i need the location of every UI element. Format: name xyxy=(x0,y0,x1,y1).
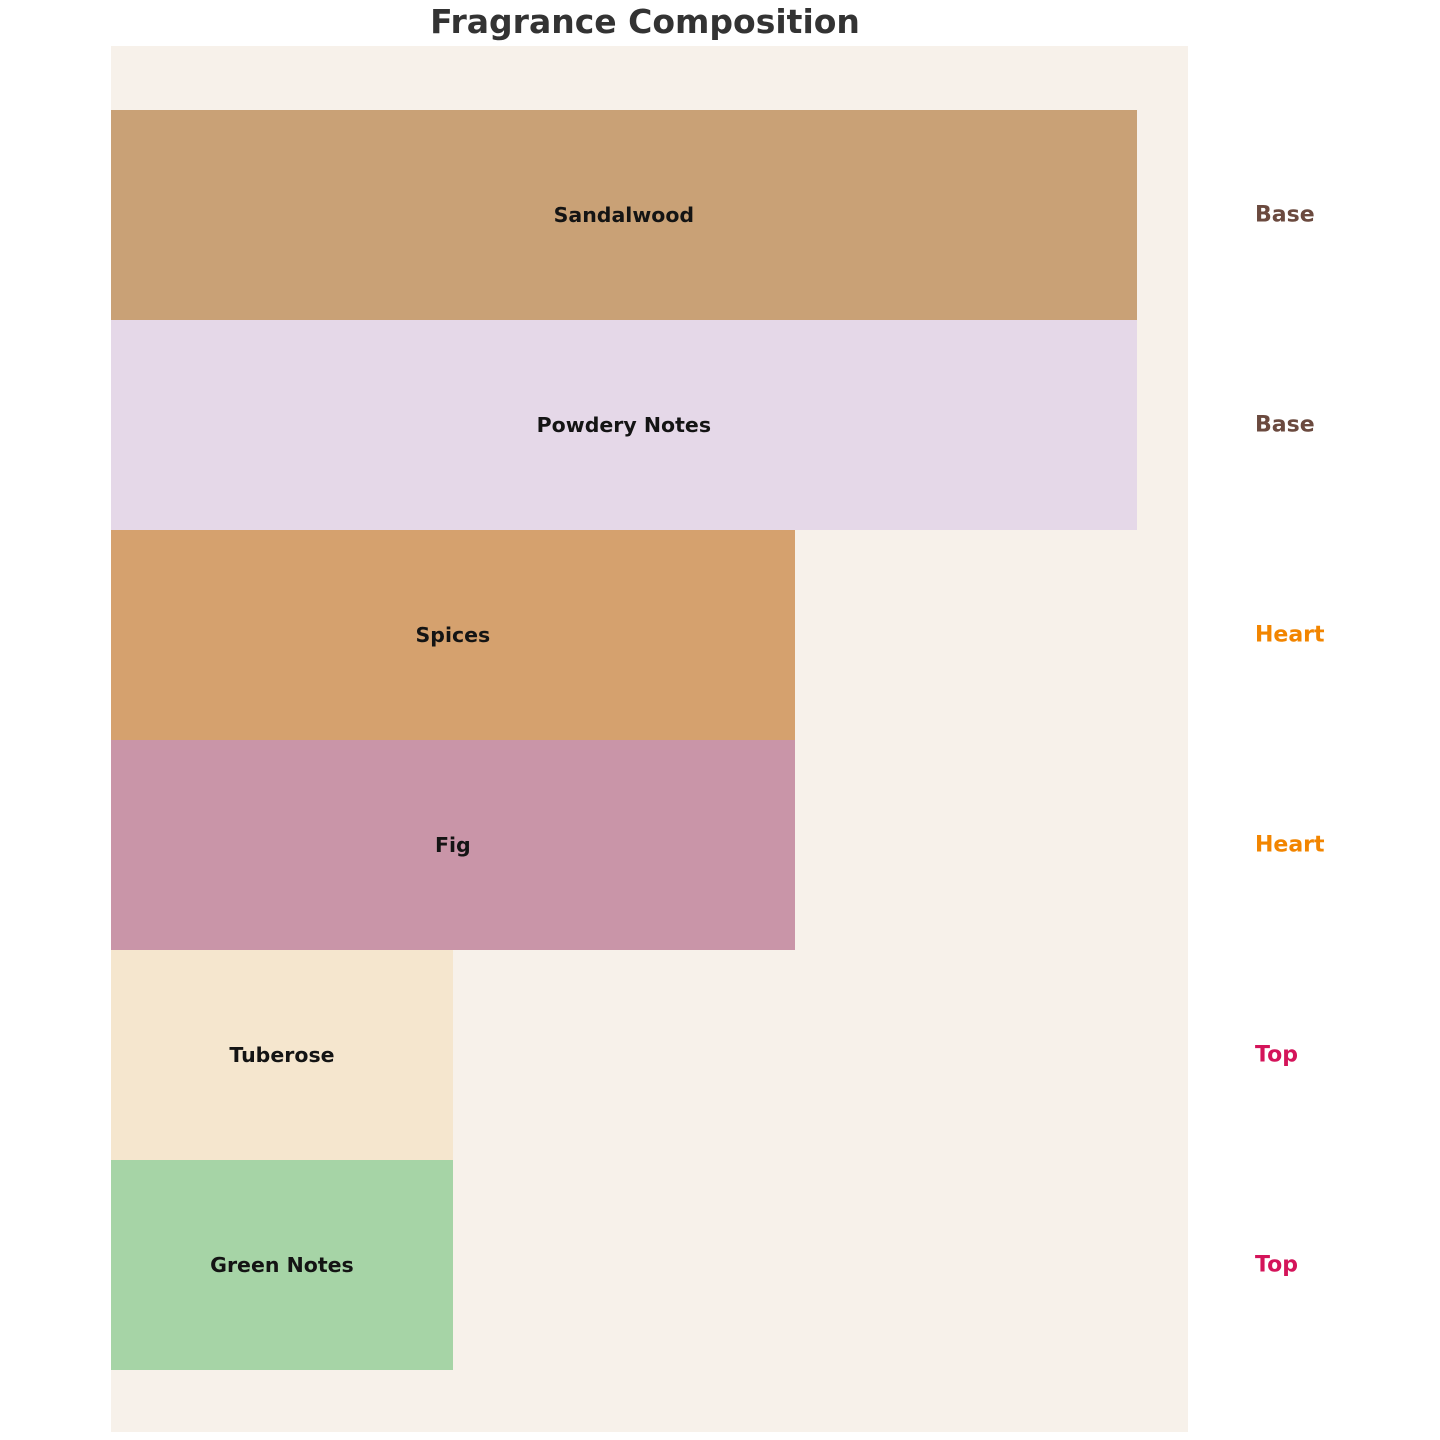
group-label-top: Top xyxy=(1255,1043,1298,1068)
bar-fig[interactable]: Fig xyxy=(111,740,795,950)
bar-label: Fig xyxy=(435,833,471,857)
fragrance-composition-chart: Fragrance Composition SandalwoodPowdery … xyxy=(0,0,1440,1440)
group-label-top: Top xyxy=(1255,1253,1298,1278)
bar-label: Spices xyxy=(416,623,491,647)
bar-label: Tuberose xyxy=(229,1043,334,1067)
bar-label: Powdery Notes xyxy=(537,413,711,437)
bar-spices[interactable]: Spices xyxy=(111,530,795,740)
plot-area: SandalwoodPowdery NotesSpicesFigTuberose… xyxy=(111,46,1188,1432)
bar-label: Green Notes xyxy=(210,1253,354,1277)
bar-sandalwood[interactable]: Sandalwood xyxy=(111,110,1137,320)
bar-tuberose[interactable]: Tuberose xyxy=(111,950,453,1160)
group-label-base: Base xyxy=(1255,203,1315,228)
group-label-base: Base xyxy=(1255,413,1315,438)
chart-title: Fragrance Composition xyxy=(0,2,1290,41)
bar-green-notes[interactable]: Green Notes xyxy=(111,1160,453,1370)
bar-powdery-notes[interactable]: Powdery Notes xyxy=(111,320,1137,530)
group-label-heart: Heart xyxy=(1255,833,1325,858)
group-label-heart: Heart xyxy=(1255,623,1325,648)
bar-label: Sandalwood xyxy=(554,203,695,227)
